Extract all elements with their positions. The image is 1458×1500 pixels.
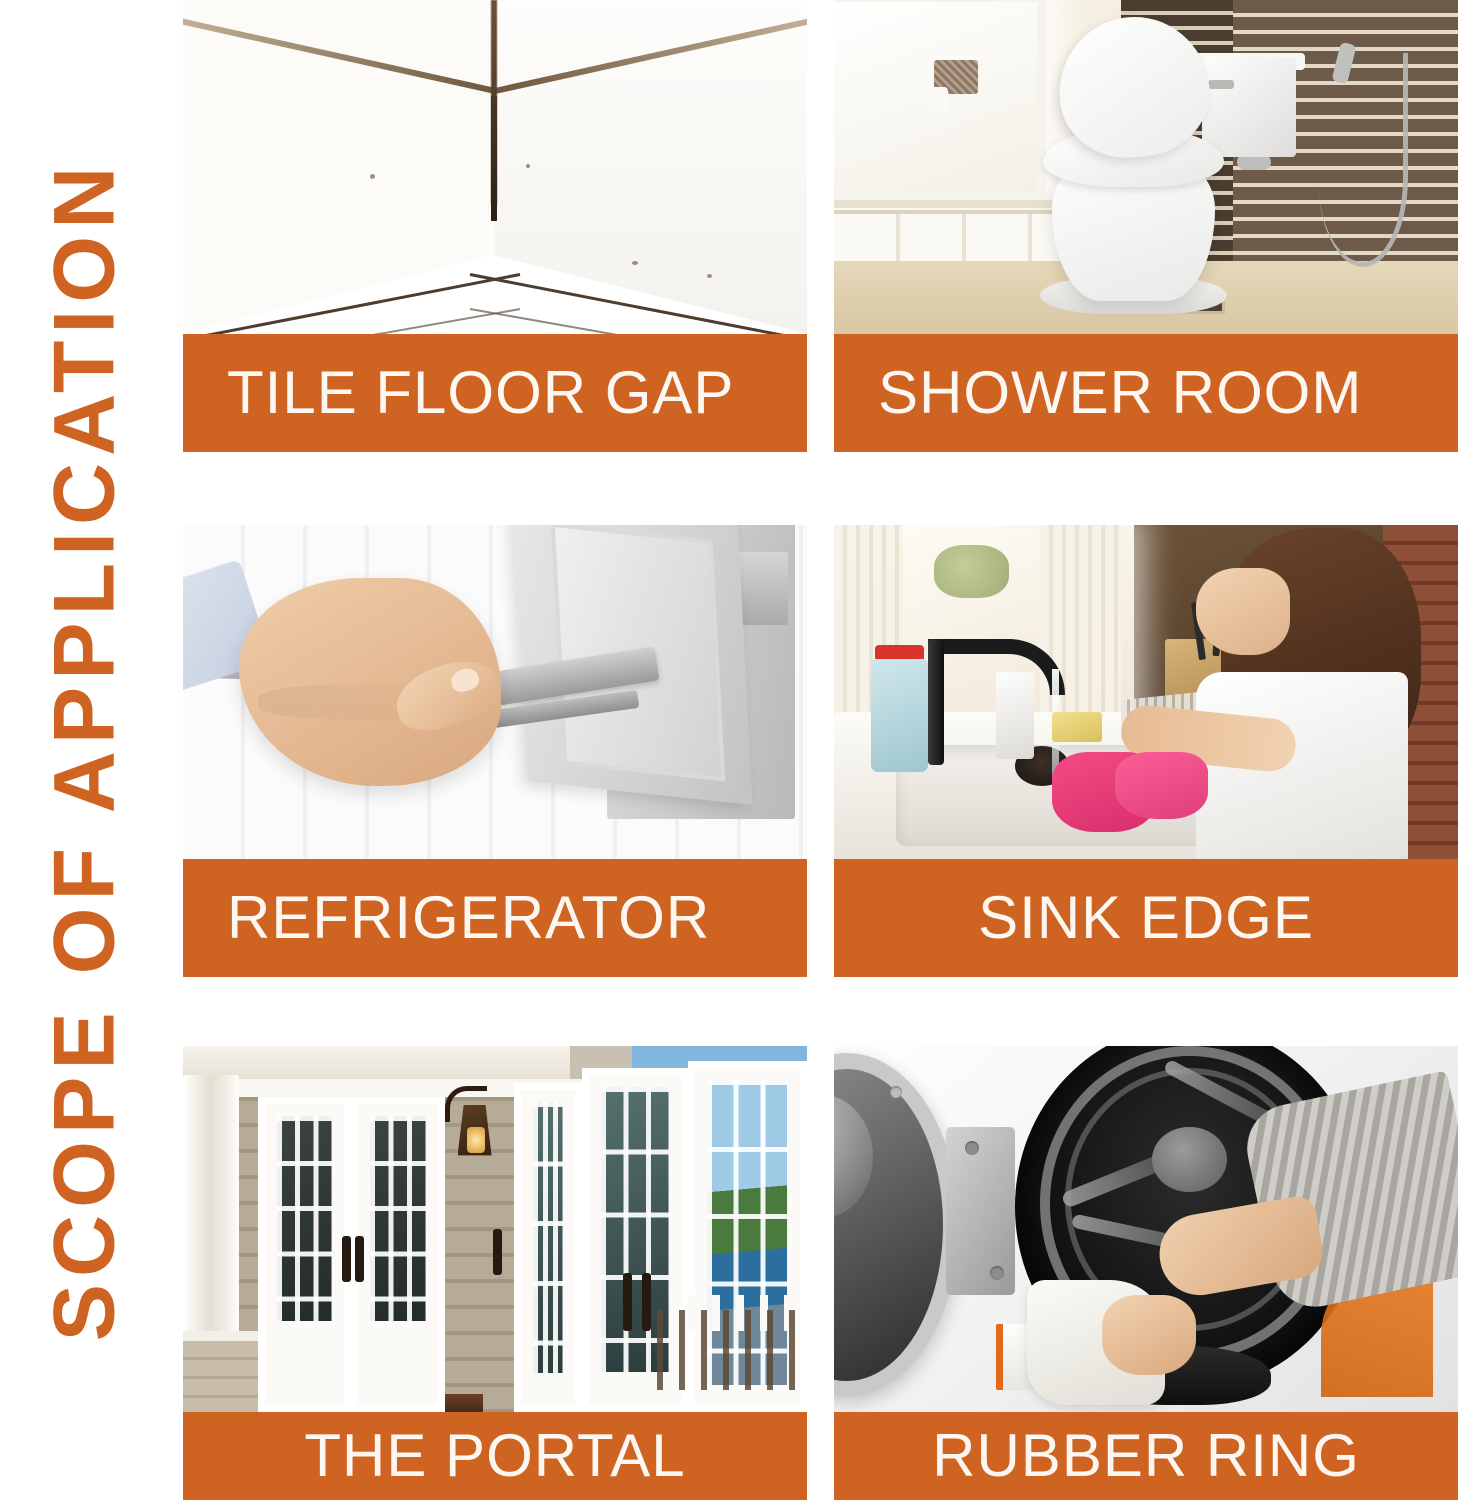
window-plant [934, 545, 1009, 598]
caption-label: SINK EDGE [834, 888, 1458, 948]
cell-the-portal: THE PORTAL [183, 1046, 807, 1500]
cell-refrigerator: REFRIGERATOR [183, 525, 807, 977]
door-hinge [946, 1127, 1015, 1295]
caption-label: RUBBER RING [834, 1426, 1458, 1486]
cell-sink-edge: SINK EDGE [834, 525, 1458, 977]
caption-label: SHOWER ROOM [834, 363, 1458, 423]
porch-column [183, 1075, 239, 1360]
grout-line-vertical-bottom [491, 96, 497, 221]
caption-bar-sink-edge: SINK EDGE [834, 859, 1458, 977]
toilet-tank [1202, 57, 1296, 157]
photo-the-portal [183, 1046, 807, 1412]
french-door-right [351, 1097, 445, 1412]
hand-gripping-cloth [1102, 1295, 1196, 1376]
sponge [1052, 712, 1102, 742]
photo-sink-edge [834, 525, 1458, 859]
window-muntin-grid [533, 1102, 564, 1374]
mould-speck [632, 261, 638, 265]
faucet-body [928, 639, 944, 766]
spray-bottle [871, 659, 927, 773]
glass-reflection [834, 1094, 873, 1219]
pink-rubber-glove [1115, 752, 1209, 819]
caption-bar-refrigerator: REFRIGERATOR [183, 859, 807, 977]
caption-label: TILE FLOOR GAP [183, 363, 807, 423]
french-door-left [258, 1097, 352, 1412]
caption-bar-the-portal: THE PORTAL [183, 1412, 807, 1500]
window-muntin-grid [277, 1116, 333, 1321]
side-heading-text: SCOPE OF APPLICATION [36, 159, 135, 1341]
door-glass-pane [370, 1116, 426, 1321]
mould-speck [526, 164, 530, 168]
lantern-light-icon [467, 1127, 485, 1153]
bidet-hose [1318, 53, 1408, 267]
girl-face [1196, 568, 1290, 655]
door-glass-pane [533, 1102, 564, 1374]
toilet-paper [928, 87, 948, 113]
deck-railing [657, 1310, 794, 1391]
cell-tile-floor-gap: TILE FLOOR GAP [183, 0, 807, 452]
photo-refrigerator [183, 525, 807, 859]
door-handle [342, 1236, 351, 1282]
hinge-bolt [990, 1266, 1004, 1280]
door-handle [355, 1236, 364, 1282]
caption-bar-tile-floor-gap: TILE FLOOR GAP [183, 334, 807, 452]
soap-dispenser [996, 672, 1033, 759]
caption-label: REFRIGERATOR [183, 888, 807, 948]
drum-hub [1152, 1127, 1227, 1193]
scope-of-application-heading: SCOPE OF APPLICATION [0, 0, 170, 1500]
door-handle [642, 1273, 651, 1331]
cell-rubber-ring: RUBBER RING [834, 1046, 1458, 1500]
window-muntin-grid [370, 1116, 426, 1321]
caption-bar-rubber-ring: RUBBER RING [834, 1412, 1458, 1500]
photo-tile-floor-gap [183, 0, 807, 334]
cell-shower-room: SHOWER ROOM [834, 0, 1458, 452]
caption-bar-shower-room: SHOWER ROOM [834, 334, 1458, 452]
door-handle [623, 1273, 632, 1331]
photo-rubber-ring [834, 1046, 1458, 1412]
mould-speck [370, 174, 375, 179]
infographic-page: SCOPE OF APPLICATION [0, 0, 1458, 1500]
toilet-flush-handle [1208, 80, 1234, 89]
photo-shower-room [834, 0, 1458, 334]
mould-speck [707, 274, 712, 278]
sidelite-door [514, 1083, 583, 1412]
caption-label: THE PORTAL [183, 1426, 807, 1486]
door-handle [493, 1229, 502, 1275]
application-grid: TILE FLOOR GAP [183, 0, 1458, 1500]
door-glass-pane [277, 1116, 333, 1321]
